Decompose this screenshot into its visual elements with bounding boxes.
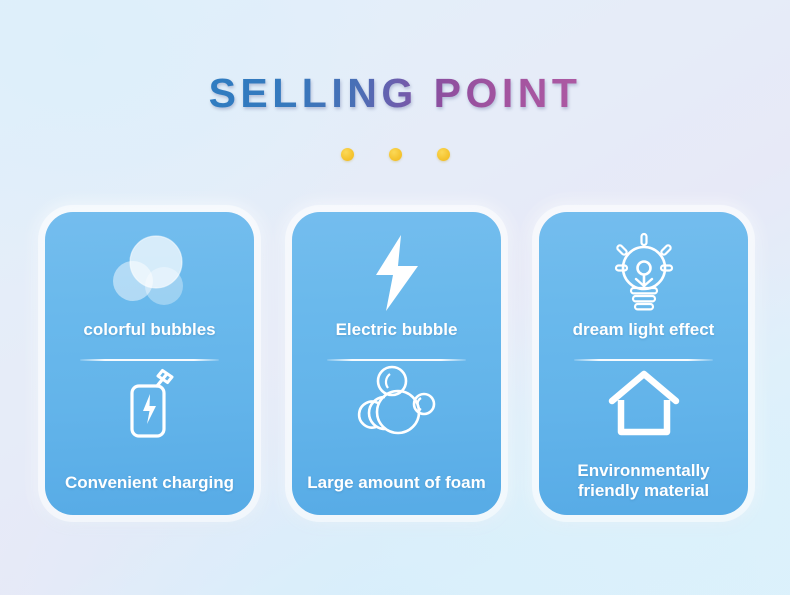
bubbles-outline-icon-slot bbox=[292, 361, 501, 445]
dot-2-icon bbox=[389, 148, 402, 161]
poster-canvas: SELLING POINT colorful bubbles bbox=[0, 0, 790, 595]
feature-card-dream-light[interactable]: dream light effect Environmentally frien… bbox=[539, 212, 748, 515]
page-title: SELLING POINT bbox=[209, 73, 582, 114]
card-1-top-label: colorful bubbles bbox=[83, 320, 215, 340]
card-3-bottom-label-line1: Environmentally bbox=[577, 461, 709, 480]
lightning-bolt-icon bbox=[368, 233, 426, 313]
card-1-bottom-label: Convenient charging bbox=[65, 473, 234, 493]
card-2-top-label: Electric bubble bbox=[336, 320, 458, 340]
feature-card-colorful-bubbles[interactable]: colorful bubbles Convenient charging bbox=[45, 212, 254, 515]
card-3-top-label: dream light effect bbox=[573, 320, 715, 340]
dot-3-icon bbox=[437, 148, 450, 161]
power-bank-charging-icon bbox=[118, 366, 182, 440]
title-decoration-dots bbox=[0, 148, 790, 161]
dot-1-icon bbox=[341, 148, 354, 161]
bubbles-outline-icon bbox=[355, 365, 439, 441]
feature-card-list: colorful bubbles Convenient charging E bbox=[45, 212, 748, 515]
card-2-bottom-label: Large amount of foam bbox=[307, 473, 486, 493]
lightning-bolt-icon-slot bbox=[292, 229, 501, 317]
house-icon bbox=[608, 370, 680, 436]
house-icon-slot bbox=[539, 361, 748, 445]
bubbles-filled-icon bbox=[107, 234, 193, 312]
lightbulb-icon-slot bbox=[539, 229, 748, 317]
lightbulb-icon bbox=[600, 232, 688, 314]
card-3-bottom-label: Environmentally friendly material bbox=[577, 461, 709, 501]
power-bank-charging-icon-slot bbox=[45, 361, 254, 445]
feature-card-electric-bubble[interactable]: Electric bubble Large amount of foam bbox=[292, 212, 501, 515]
page-title-wrapper: SELLING POINT bbox=[0, 73, 790, 114]
card-3-bottom-label-line2: friendly material bbox=[578, 481, 709, 500]
bubbles-filled-icon-slot bbox=[45, 229, 254, 317]
